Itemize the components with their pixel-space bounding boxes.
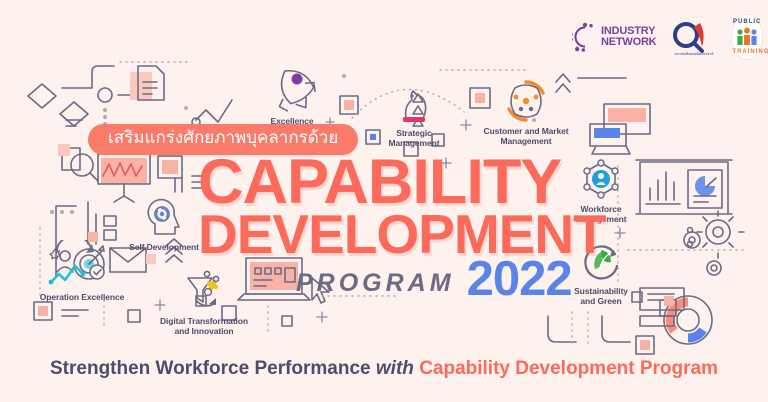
cluster-label-operation-excellence: Operation Excellence (40, 292, 124, 302)
headline-program: PROGRAM (296, 271, 455, 301)
headline-year: 2022 (467, 259, 572, 301)
headline-block: CAPABILITY DEVELOPMENT PROGRAM 2022 (198, 155, 606, 301)
cluster-operation-excellence: Operation Excellence (24, 240, 140, 302)
head-refresh-icon (142, 196, 186, 240)
cluster-label-strategic-management: Strategic Management (389, 128, 440, 148)
cluster-label-customer-market-management: Customer and Market Management (483, 126, 568, 146)
network-hub-icon (503, 78, 549, 124)
cluster-label-digital-transformation: Digital Transformation and Innovation (160, 316, 248, 336)
cluster-strategic-management: Strategic Management (372, 82, 456, 148)
poster-canvas: INDUSTRY NETWORK สถาบันเพิ่มผลผลิตแห่งชา… (0, 0, 768, 402)
program-year-row: PROGRAM 2022 (296, 259, 606, 301)
target-chart-icon (45, 240, 119, 290)
rocket-icon (266, 62, 318, 114)
chess-knight-icon (392, 82, 436, 126)
headline-line2: DEVELOPMENT (198, 211, 606, 258)
cluster-customer-market-management: Customer and Market Management (464, 78, 588, 146)
headline-line1: CAPABILITY (198, 155, 606, 209)
